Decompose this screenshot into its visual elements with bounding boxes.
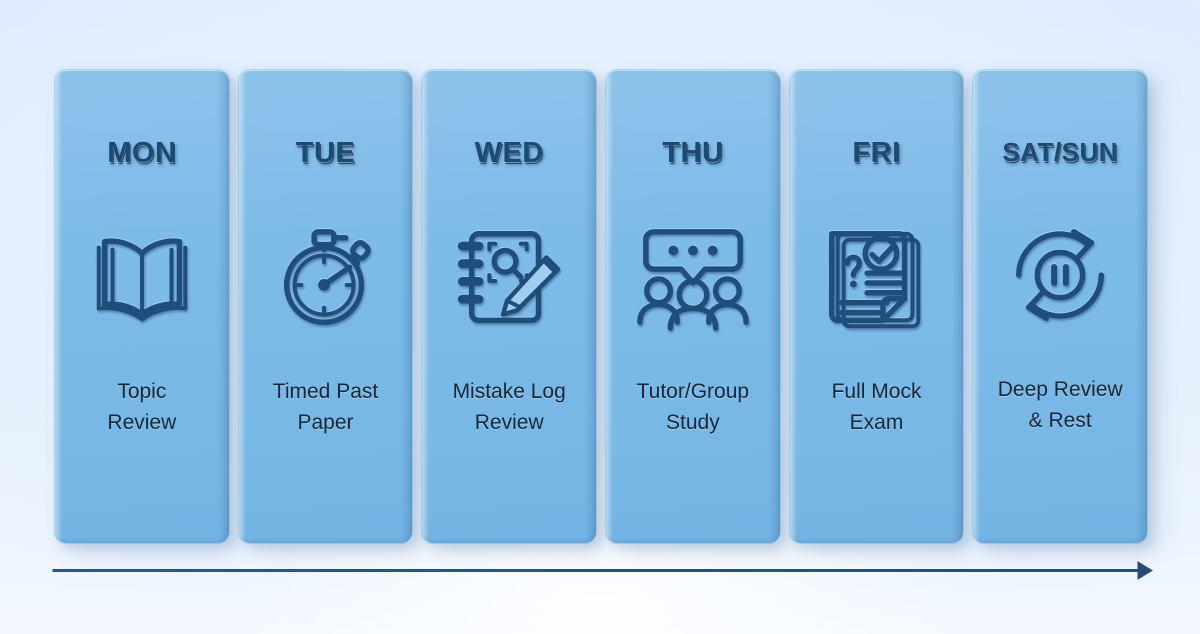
group-discussion-icon [628, 212, 758, 342]
task-line-1: Timed Past [246, 376, 406, 407]
task-label-thu: Tutor/Group Study [613, 376, 773, 438]
refresh-pause-icon [995, 210, 1125, 340]
day-card-fri[interactable]: FRI Full Mock [790, 70, 964, 543]
day-card-thu[interactable]: THU Tutor/Group Study [606, 70, 780, 543]
day-label-mon: MON [107, 137, 176, 170]
task-line-1: Topic [62, 376, 222, 407]
day-label-sat-sun: SAT/SUN [1002, 137, 1118, 168]
day-label-tue: TUE [296, 137, 356, 170]
task-label-sat-sun: Deep Review & Rest [980, 374, 1140, 436]
day-label-wed: WED [475, 137, 544, 170]
task-line-1: Tutor/Group [613, 376, 773, 407]
progression-arrow [30, 548, 1170, 596]
task-line-2: & Rest [980, 405, 1140, 436]
day-card-sat-sun[interactable]: SAT/SUN Deep Review & Rest [973, 70, 1147, 543]
task-label-tue: Timed Past Paper [246, 376, 406, 438]
weekly-plan-card-row: MON Topic Review TUE [55, 70, 1147, 543]
task-line-1: Deep Review [980, 374, 1140, 405]
task-line-2: Exam [797, 407, 957, 438]
exam-papers-checkmark-icon [812, 212, 942, 342]
task-line-2: Review [62, 407, 222, 438]
day-label-thu: THU [662, 137, 723, 170]
task-line-2: Review [429, 407, 589, 438]
task-line-1: Full Mock [797, 376, 957, 407]
stopwatch-icon [261, 212, 391, 342]
task-line-1: Mistake Log [429, 376, 589, 407]
task-label-wed: Mistake Log Review [429, 376, 589, 438]
day-card-wed[interactable]: WED Mistake L [422, 70, 596, 543]
day-card-mon[interactable]: MON Topic Review [55, 70, 229, 543]
task-label-mon: Topic Review [62, 376, 222, 438]
open-book-icon [77, 212, 207, 342]
day-card-tue[interactable]: TUE Timed Past Paper [239, 70, 413, 543]
task-line-2: Paper [246, 407, 406, 438]
day-label-fri: FRI [852, 137, 900, 170]
task-line-2: Study [613, 407, 773, 438]
task-label-fri: Full Mock Exam [797, 376, 957, 438]
notebook-pencil-magnifier-icon [444, 212, 574, 342]
